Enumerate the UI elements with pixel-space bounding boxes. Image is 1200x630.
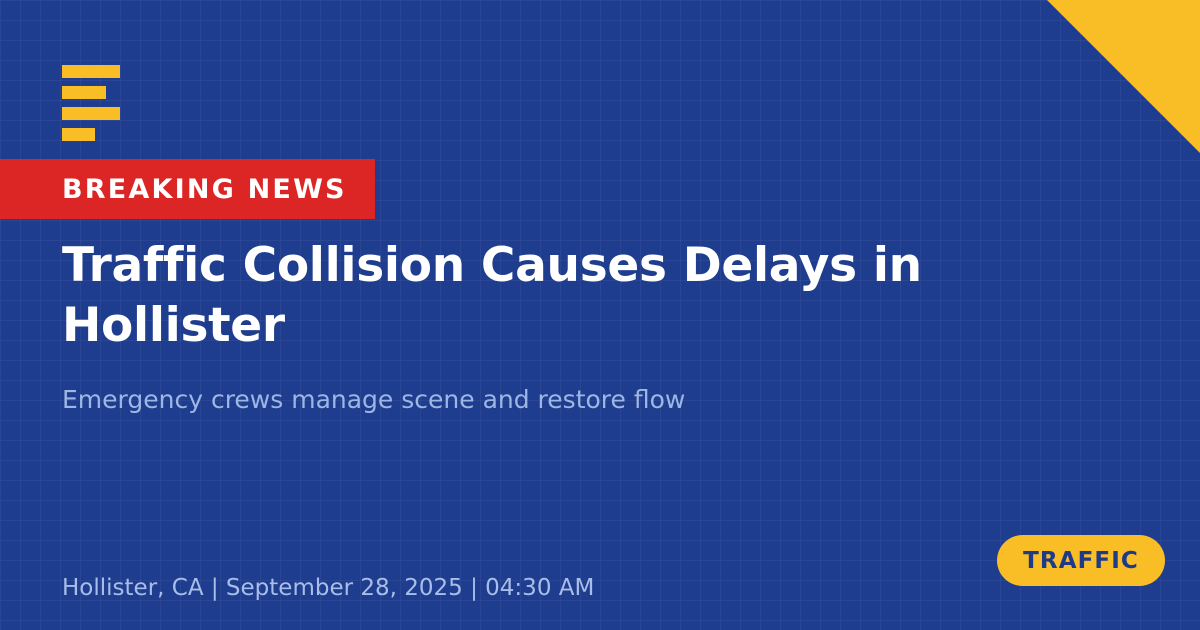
breaking-news-label: BREAKING NEWS [62, 176, 347, 203]
logo-bar-3 [62, 107, 120, 120]
headline: Traffic Collision Causes Delays in Holli… [62, 236, 1062, 355]
logo-bar-2 [62, 86, 106, 99]
breaking-news-banner: BREAKING NEWS [0, 159, 375, 219]
footer-metadata: Hollister, CA | September 28, 2025 | 04:… [62, 574, 594, 604]
corner-accent-triangle [1047, 0, 1200, 153]
subtitle: Emergency crews manage scene and restore… [62, 384, 1062, 417]
category-badge-traffic: TRAFFIC [997, 535, 1165, 586]
breaking-news-graphic: BREAKING NEWS Traffic Collision Causes D… [0, 0, 1200, 630]
news-logo [62, 65, 120, 141]
logo-bar-1 [62, 65, 120, 78]
logo-bar-4 [62, 128, 95, 141]
